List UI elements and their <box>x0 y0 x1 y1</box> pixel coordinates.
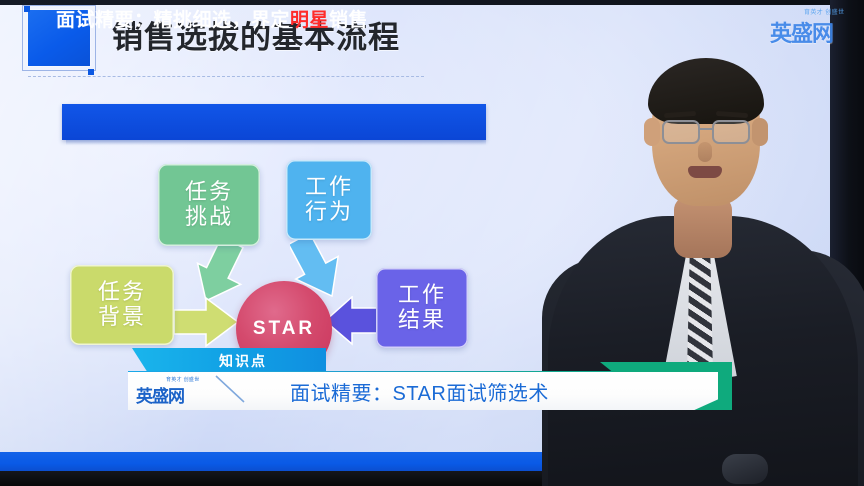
diagram-node-work-result[interactable]: 工作 结果 <box>376 268 468 348</box>
node-line-1: 工作 <box>398 283 446 308</box>
presenter-hands <box>722 454 768 484</box>
subtitle-suffix: 销售 <box>329 5 368 32</box>
presenter-ear-left <box>644 118 660 146</box>
glasses-lens-left-icon <box>662 120 700 144</box>
subtitle-banner-shadow <box>66 140 486 145</box>
node-line-1: 任务 <box>98 280 146 305</box>
brand-logo[interactable]: 育英才 创盛世 英盛网 <box>136 378 212 404</box>
subtitle-banner <box>62 104 486 140</box>
watermark-logo: 育英才 创盛世 英盛网 <box>770 6 862 46</box>
node-line-1: 任务 <box>185 180 233 205</box>
node-line-2: 行为 <box>305 200 353 225</box>
subtitle-text: 面试精要：精挑细选，界定明星销售 <box>0 0 424 36</box>
diagram-node-work-behavior[interactable]: 工作 行为 <box>286 160 372 240</box>
title-corner-dot <box>88 69 94 75</box>
watermark-tagline: 育英才 创盛世 <box>804 7 844 16</box>
subtitle-highlight: 明星 <box>290 5 329 32</box>
presenter-ear-right <box>752 118 768 146</box>
glasses-lens-right-icon <box>712 120 750 144</box>
brand-logo-text: 英盛网 <box>136 382 184 407</box>
lower-third-slash-icon <box>214 374 248 406</box>
diagram-node-task-challenge[interactable]: 任务 挑战 <box>158 164 260 246</box>
video-frame: 销售选拔的基本流程 面试精要：精挑细选，界定明星销售 任务 挑战 工作 行为 任… <box>0 0 864 486</box>
watermark-text: 英盛网 <box>770 16 833 48</box>
node-line-2: 挑战 <box>185 205 233 230</box>
presenter-nose <box>698 142 712 162</box>
arrow-task-background-to-star <box>172 296 246 348</box>
diagram-center-label: STAR <box>236 318 332 340</box>
diagram-node-task-background[interactable]: 任务 背景 <box>70 265 174 345</box>
lower-third-title: 面试精要：STAR面试筛选术 <box>290 374 690 408</box>
node-line-2: 背景 <box>98 305 146 330</box>
presenter-mouth <box>688 166 722 178</box>
subtitle-prefix: 面试精要：精挑细选，界定 <box>56 5 290 32</box>
lower-third-tab-label: 知识点 <box>132 348 326 373</box>
title-divider <box>28 76 424 77</box>
node-line-1: 工作 <box>305 175 353 200</box>
node-line-2: 结果 <box>398 308 446 333</box>
presenter-video <box>540 46 864 486</box>
glasses-bridge-icon <box>700 128 712 130</box>
